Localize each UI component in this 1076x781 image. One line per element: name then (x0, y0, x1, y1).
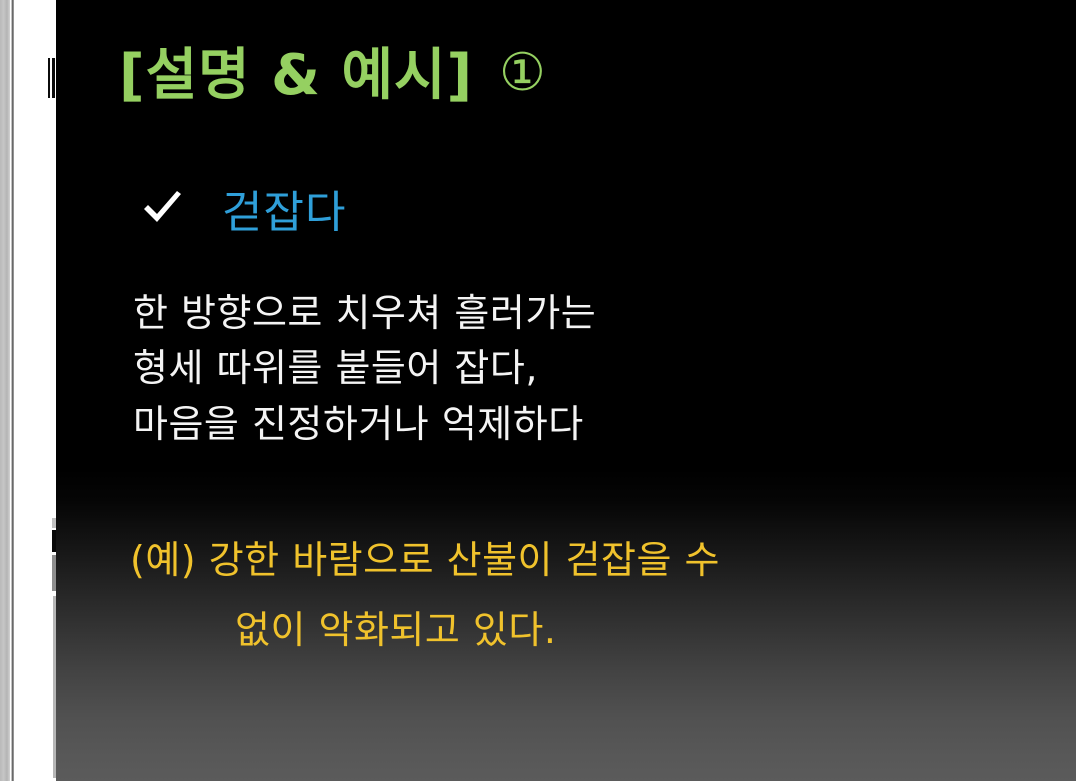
presentation-window: [설명 & 예시]① 걷잡다 한 방향으로 치우쳐 흘러가는 형세 따위를 붙들… (0, 0, 1076, 781)
slide-canvas[interactable]: [설명 & 예시]① 걷잡다 한 방향으로 치우쳐 흘러가는 형세 따위를 붙들… (56, 0, 1076, 781)
headword-row: 걷잡다 (140, 176, 346, 240)
slide-title-text: [설명 & 예시] (119, 43, 473, 108)
definition-block: 한 방향으로 치우쳐 흘러가는 형세 따위를 붙들어 잡다, 마음을 진정하거나… (133, 286, 993, 452)
definition-line: 한 방향으로 치우쳐 흘러가는 (133, 286, 993, 341)
example-line: 없이 악화되고 있다. (130, 595, 1030, 665)
window-left-gutter (0, 0, 10, 781)
headword-term: 걷잡다 (222, 176, 346, 240)
checkmark-icon (140, 186, 184, 230)
definition-line: 형세 따위를 붙들어 잡다, (133, 341, 993, 396)
example-block: (예) 강한 바람으로 산불이 걷잡을 수 없이 악화되고 있다. (130, 525, 1030, 666)
slide-navigation-pane[interactable] (14, 0, 56, 781)
outline-strip-bar (48, 58, 50, 98)
slide-title-number-badge: ① (499, 46, 547, 101)
example-line: (예) 강한 바람으로 산불이 걷잡을 수 (130, 525, 1030, 595)
definition-line: 마음을 진정하거나 억제하다 (133, 397, 993, 452)
slide-title: [설명 & 예시]① (119, 46, 1019, 106)
